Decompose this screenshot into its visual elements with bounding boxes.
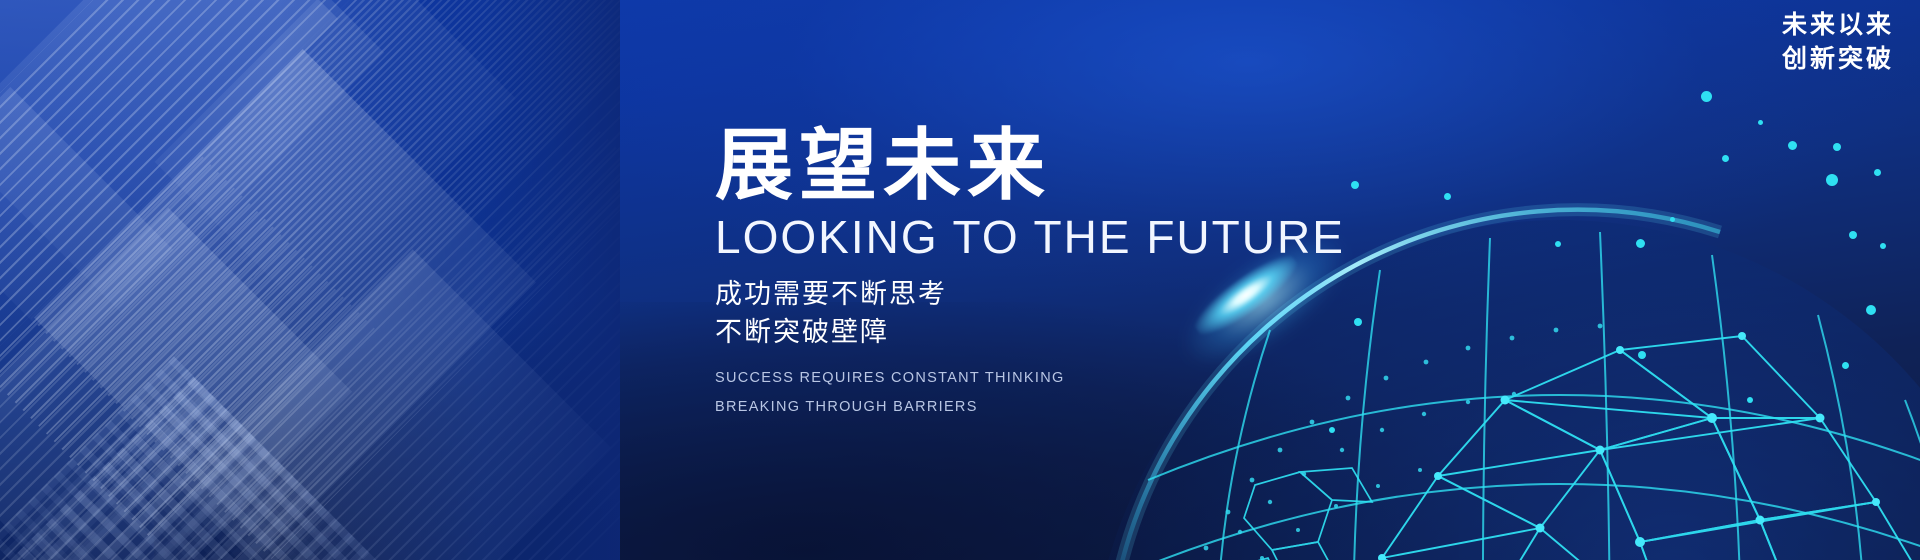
main-text-block: 展望未来 LOOKING TO THE FUTURE 成功需要不断思考 不断突破… (715, 126, 1475, 423)
deco-panel (179, 249, 610, 560)
subtitle-english-group: SUCCESS REQUIRES CONSTANT THINKING BREAK… (715, 364, 1475, 423)
corner-slogan-line-1: 未来以来 (1782, 8, 1894, 42)
headline-english: LOOKING TO THE FUTURE (715, 212, 1475, 264)
floating-dot (1842, 362, 1849, 369)
floating-dot (1788, 141, 1797, 150)
headline-chinese: 展望未来 (715, 126, 1475, 206)
subtitle-english-line-1: SUCCESS REQUIRES CONSTANT THINKING (715, 364, 1475, 394)
deco-checker-pattern (0, 377, 490, 560)
subtitle-english-line-2: BREAKING THROUGH BARRIERS (715, 393, 1475, 423)
floating-dot (1701, 91, 1712, 102)
floating-dot (1880, 243, 1886, 249)
floating-dot (1849, 231, 1857, 239)
deco-panel (155, 0, 516, 310)
floating-dot (1874, 169, 1881, 176)
deco-panel (0, 87, 173, 483)
deco-checker-pattern (0, 356, 386, 560)
floating-dot (1638, 351, 1646, 359)
deco-stripe-group (155, 125, 620, 560)
floating-dot (1636, 239, 1645, 248)
corner-slogan-line-2: 创新突破 (1782, 42, 1894, 76)
deco-stripe-group (31, 0, 620, 559)
floating-dot (1555, 241, 1561, 247)
floating-dot (1833, 143, 1841, 151)
left-geometric-decoration (0, 0, 620, 560)
floating-dot (1758, 120, 1763, 125)
deco-panel (0, 0, 338, 323)
deco-stripe-group (0, 0, 620, 537)
deco-stripe-group (0, 150, 380, 560)
floating-dot (1826, 174, 1838, 186)
deco-panel (0, 0, 384, 314)
floating-dot (1670, 217, 1675, 222)
subtitle-chinese-line-2: 不断突破壁障 (715, 313, 1475, 351)
deco-panel (0, 208, 352, 560)
subtitle-chinese-line-1: 成功需要不断思考 (715, 275, 1475, 313)
floating-dot (1866, 305, 1876, 315)
promo-banner: 未来以来 创新突破 展望未来 LOOKING TO THE FUTURE 成功需… (0, 0, 1920, 560)
floating-dot (1329, 427, 1335, 433)
corner-slogan: 未来以来 创新突破 (1782, 8, 1894, 76)
floating-dot (1747, 397, 1753, 403)
floating-dot (1722, 155, 1729, 162)
deco-panel (34, 49, 536, 551)
